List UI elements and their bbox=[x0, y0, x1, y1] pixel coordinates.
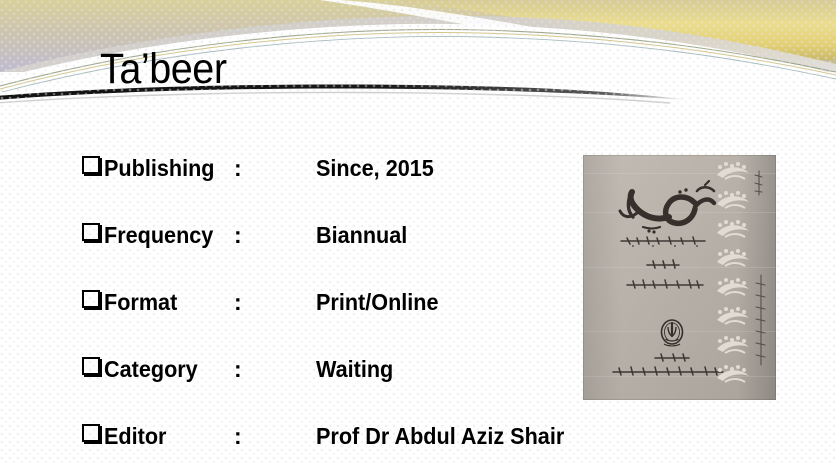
detail-label-publishing: Publishing bbox=[104, 155, 226, 182]
detail-separator: : bbox=[234, 423, 316, 450]
detail-separator: : bbox=[234, 155, 316, 182]
detail-label-format: Format bbox=[104, 289, 226, 316]
hollow-square-bullet-icon bbox=[82, 424, 104, 446]
hollow-square-bullet-icon bbox=[82, 223, 104, 245]
detail-row-format: Format : Print/Online bbox=[82, 287, 446, 317]
page-title: Ta’beer bbox=[100, 48, 227, 91]
detail-value-category: Waiting bbox=[316, 356, 393, 383]
detail-value-format: Print/Online bbox=[316, 289, 439, 316]
detail-row-publishing: Publishing : Since, 2015 bbox=[82, 153, 441, 183]
detail-row-frequency: Frequency : Biannual bbox=[82, 220, 413, 250]
hollow-square-bullet-icon bbox=[82, 156, 104, 178]
detail-row-editor: Editor : Prof Dr Abdul Aziz Shair bbox=[82, 421, 580, 451]
detail-row-category: Category : Waiting bbox=[82, 354, 398, 384]
detail-separator: : bbox=[234, 289, 316, 316]
detail-label-category: Category bbox=[104, 356, 226, 383]
detail-label-frequency: Frequency bbox=[104, 222, 226, 249]
journal-cover-image bbox=[583, 155, 776, 400]
detail-separator: : bbox=[234, 222, 316, 249]
hollow-square-bullet-icon bbox=[82, 357, 104, 379]
detail-label-editor: Editor bbox=[104, 423, 226, 450]
slide-canvas: Ta’beer Publishing : Since, 2015 Frequen… bbox=[0, 0, 836, 464]
detail-value-editor: Prof Dr Abdul Aziz Shair bbox=[316, 423, 564, 450]
detail-value-frequency: Biannual bbox=[316, 222, 407, 249]
hollow-square-bullet-icon bbox=[82, 290, 104, 312]
detail-separator: : bbox=[234, 356, 316, 383]
detail-value-publishing: Since, 2015 bbox=[316, 155, 434, 182]
